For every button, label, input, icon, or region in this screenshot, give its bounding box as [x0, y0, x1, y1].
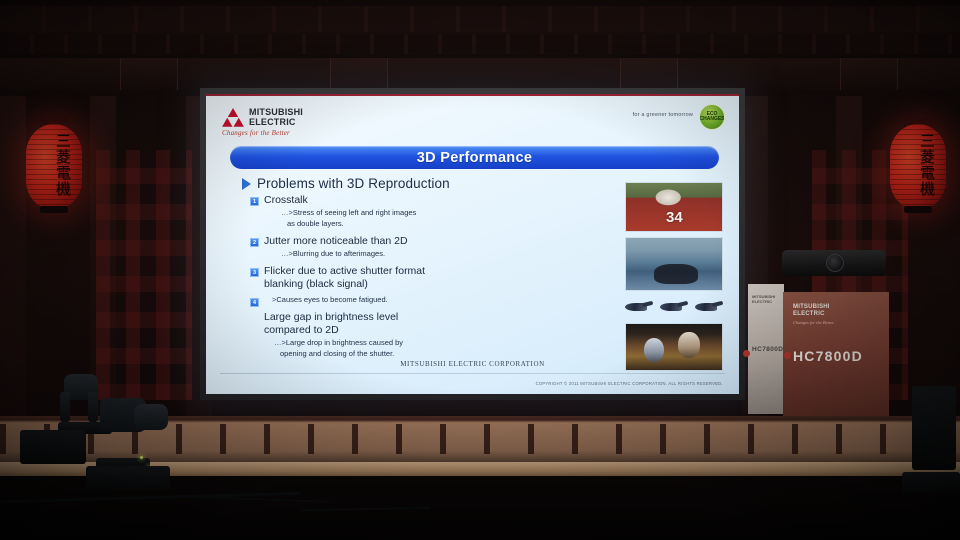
light-indicator-led: [140, 456, 143, 459]
light-yoke: [60, 392, 70, 422]
bullet-sub-line: Causes eyes to become fatigued.: [276, 295, 387, 304]
box-front-model: HC7800D: [793, 348, 863, 364]
venue-scene: 三菱電機 三菱電機 MITSU: [0, 0, 960, 540]
eco-badge-label: ECO CHANGES: [700, 112, 725, 123]
floor-equipment-case: [20, 430, 86, 464]
lantern-kanji-text: 三菱電機: [916, 133, 937, 197]
bullet-item: 3 Flicker due to active shutter format b…: [250, 265, 550, 291]
product-box-front-panel: MITSUBISHI ELECTRIC Changes for the Bett…: [783, 292, 889, 420]
box-brand-line2: ELECTRIC: [793, 311, 825, 317]
bullet-item: 1 Crosstalk: [250, 194, 550, 207]
box-side-model: HC7800D: [752, 346, 783, 353]
bullet-main-line2: blanking (black signal): [264, 278, 368, 290]
brand-wordmark-line2: ELECTRIC: [249, 118, 303, 128]
bullet-main-text: Jutter more noticeable than 2D: [264, 235, 408, 248]
3d-glasses-icon: [625, 301, 653, 313]
lantern-cord: [53, 92, 55, 118]
projector-unit: [782, 250, 886, 276]
football-player-photo: [625, 182, 723, 232]
projection-screen-frame: MITSUBISHI ELECTRIC Changes for the Bett…: [200, 88, 745, 400]
wall-lattice-left: [96, 150, 192, 400]
bullet-main-line1: Large gap in brightness level: [264, 311, 398, 323]
bullet-main-text: Crosstalk: [264, 194, 308, 207]
product-box-side-panel: MITSUBISHI ELECTRIC HC7800D: [748, 284, 784, 414]
glasses-arm: [642, 301, 654, 308]
box-side-brand: MITSUBISHI ELECTRIC: [752, 294, 784, 304]
slide-media-column: [625, 182, 723, 371]
slide-title-bar: 3D Performance: [230, 146, 719, 169]
bullet-main-text: Flicker due to active shutter format bla…: [264, 265, 425, 291]
box-front-model-text: HC7800D: [793, 348, 863, 364]
slide-footer-rule: [220, 373, 725, 374]
presentation-slide: MITSUBISHI ELECTRIC Changes for the Bett…: [206, 94, 739, 394]
game-scene-photo: [625, 237, 723, 291]
eco-changes-badge-icon: ECO CHANGES: [699, 104, 725, 130]
floor-equipment-case: [902, 472, 960, 494]
box-front-tagline: Changes for the Better: [793, 320, 834, 325]
3d-glasses-icon: [660, 301, 688, 313]
bullet-number-badge: 4: [250, 298, 259, 307]
bullet-sub-text: …>Blurring due to afterimages.: [281, 249, 550, 259]
bullet-number-badge: 1: [250, 197, 259, 206]
ceiling-beam-upper: [0, 6, 960, 32]
lantern-base: [40, 206, 68, 213]
bullet-main-line1: Flicker due to active shutter format: [264, 265, 425, 277]
bullet-sub-text: >Causes eyes to become fatigued.: [272, 295, 388, 305]
bullet-number-badge: 3: [250, 268, 259, 277]
mitsubishi-three-diamonds-icon: [222, 108, 244, 127]
bullet-sub-line: Blurring due to afterimages.: [293, 249, 385, 258]
bullet-main-line2: compared to 2D: [264, 324, 339, 336]
bullet-main-text: Large gap in brightness level compared t…: [264, 311, 550, 337]
bullet-sub-text: …>Large drop in brightness caused by: [274, 338, 550, 348]
bullet-sub-line-cont: as double layers.: [287, 219, 550, 229]
slide-corporation-line: MITSUBISHI ELECTRIC CORPORATION: [206, 360, 739, 368]
floor-equipment-stack: [912, 386, 956, 470]
wall-panel: [0, 96, 26, 416]
box-side-model-text: HC7800D: [752, 346, 783, 353]
lantern-base: [904, 206, 932, 213]
projector-lens-icon: [826, 254, 844, 272]
lantern-cord: [917, 92, 919, 118]
bullet-sub-line: Stress of seeing left and right images: [293, 208, 416, 217]
brand-tagline: Changes for the Better: [222, 129, 303, 137]
slide-heading-text: Problems with 3D Reproduction: [257, 176, 450, 191]
bullet-list: 1 Crosstalk …>Stress of seeing left and …: [250, 194, 550, 359]
bullet-sub-text: …>Stress of seeing left and right images: [281, 208, 550, 218]
box-front-brand: MITSUBISHI ELECTRIC: [793, 304, 830, 318]
bullet-item: 2 Jutter more noticeable than 2D: [250, 235, 550, 248]
sub-arrow-icon: …>: [281, 208, 293, 217]
lantern-body: 三菱電機: [890, 124, 946, 210]
3d-glasses-icon: [695, 301, 723, 313]
floor-equipment-case: [86, 466, 170, 490]
glasses-arm: [677, 301, 689, 308]
light-head: [134, 404, 168, 430]
slide-top-accent-rule: [206, 94, 739, 96]
mitsubishi-brand-block: MITSUBISHI ELECTRIC Changes for the Bett…: [222, 108, 303, 137]
bullet-sub-line-cont: opening and closing of the shutter.: [280, 349, 550, 359]
ceiling-beam-lower: [0, 34, 960, 54]
3d-glasses-row: [625, 301, 723, 313]
slide-title-text: 3D Performance: [417, 150, 532, 166]
red-dot-icon: [743, 350, 750, 357]
lantern-kanji-text: 三菱電機: [52, 133, 73, 197]
glasses-arm: [712, 301, 724, 308]
sub-arrow-icon: …>: [274, 338, 286, 347]
bullet-number-badge: 2: [250, 238, 259, 247]
red-dot-icon: [784, 352, 791, 359]
greener-tomorrow-text: for a greener tomorrow: [633, 112, 693, 118]
box-brand-line1: MITSUBISHI: [793, 304, 830, 310]
triangle-bullet-icon: [242, 178, 251, 190]
bullet-sub-line: Large drop in brightness caused by: [286, 338, 403, 347]
light-yoke: [88, 392, 98, 422]
bullet-item: 4 >Causes eyes to become fatigued.: [250, 295, 550, 307]
lantern-body: 三菱電機: [26, 124, 82, 210]
slide-copyright-text: COPYRIGHT © 2011 MITSUBISHI ELECTRIC COR…: [536, 381, 723, 386]
sub-arrow-icon: …>: [281, 249, 293, 258]
